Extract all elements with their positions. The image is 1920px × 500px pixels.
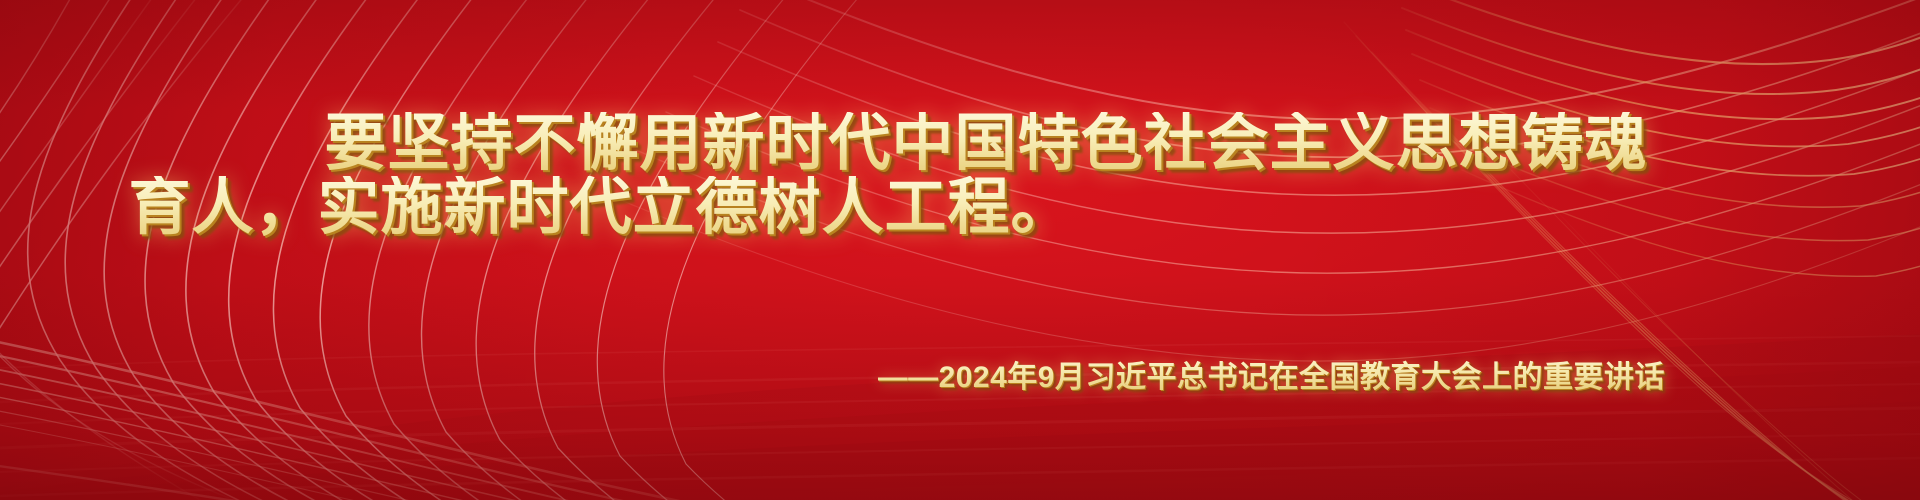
promotional-banner: 要坚持不懈用新时代中国特色社会主义思想铸魂 育人，实施新时代立德树人工程。 ——… bbox=[0, 0, 1920, 500]
headline-line-2: 育人，实施新时代立德树人工程。 bbox=[0, 176, 1920, 240]
attribution-text: ——2024年9月习近平总书记在全国教育大会上的重要讲话 bbox=[878, 352, 1665, 396]
headline-line-1: 要坚持不懈用新时代中国特色社会主义思想铸魂 bbox=[0, 112, 1920, 176]
banner-content: 要坚持不懈用新时代中国特色社会主义思想铸魂 育人，实施新时代立德树人工程。 ——… bbox=[0, 0, 1920, 500]
headline-block: 要坚持不懈用新时代中国特色社会主义思想铸魂 育人，实施新时代立德树人工程。 bbox=[0, 112, 1920, 241]
